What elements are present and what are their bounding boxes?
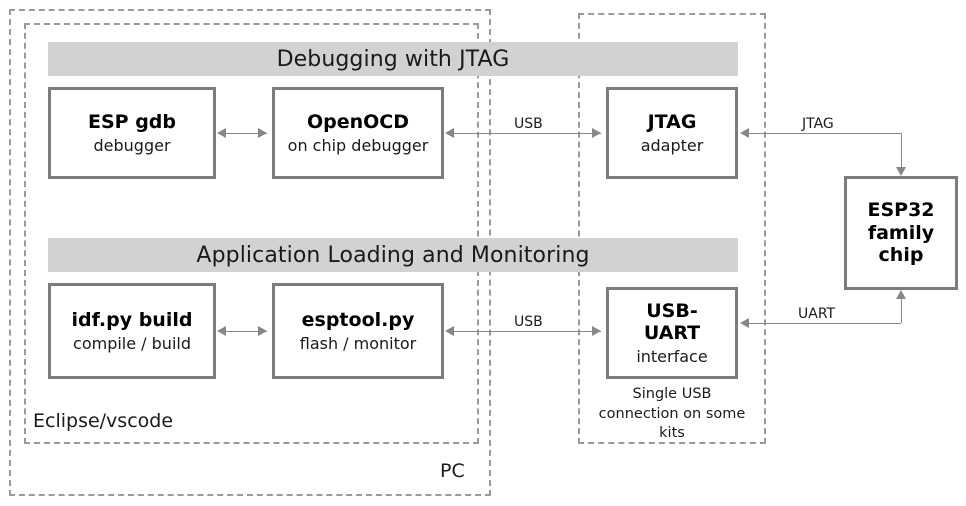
connector-esptool-usbuart-arrow-right — [592, 326, 601, 336]
node-usb-uart[interactable]: USB- UART interface — [606, 287, 738, 379]
connector-usbuart-chip-horizontal — [748, 323, 901, 324]
node-usb-uart-subtitle: interface — [636, 347, 707, 366]
connector-esptool-usbuart-label: USB — [514, 314, 543, 330]
node-idf-py-build[interactable]: idf.py build compile / build — [48, 283, 216, 379]
connector-jtag-chip-horizontal — [748, 133, 901, 134]
node-esptool-py[interactable]: esptool.py flash / monitor — [272, 283, 444, 379]
node-jtag-adapter-subtitle: adapter — [641, 136, 704, 155]
node-esp32-chip-title: ESP32 family chip — [867, 199, 934, 266]
section-bar-loading-label: Application Loading and Monitoring — [196, 243, 589, 268]
connector-jtag-chip-vertical — [901, 133, 902, 167]
connector-esptool-usbuart-arrow-left — [445, 326, 454, 336]
group-pc-label: PC — [440, 460, 465, 482]
connector-openocd-jtag-label: USB — [514, 116, 543, 132]
connector-usbuart-chip-arrow-left — [740, 318, 749, 328]
connector-openocd-jtag-arrow-right — [592, 128, 601, 138]
node-idf-py-build-title: idf.py build — [72, 309, 193, 331]
node-esp32-chip[interactable]: ESP32 family chip — [844, 176, 958, 290]
section-bar-debugging-label: Debugging with JTAG — [277, 47, 510, 72]
connector-gdb-openocd-arrow-right — [258, 128, 267, 138]
node-esptool-py-subtitle: flash / monitor — [300, 334, 417, 353]
node-idf-py-build-subtitle: compile / build — [73, 334, 191, 353]
node-jtag-adapter[interactable]: JTAG adapter — [606, 87, 738, 179]
node-openocd-title: OpenOCD — [307, 111, 409, 133]
connector-usbuart-chip-label: UART — [798, 306, 835, 322]
connector-idf-esptool-arrow-right — [258, 326, 267, 336]
node-usb-uart-caption: Single USB connection on some kits — [591, 385, 753, 444]
connector-usbuart-chip-vertical — [901, 299, 902, 323]
node-esptool-py-title: esptool.py — [302, 309, 415, 331]
connector-jtag-chip-label: JTAG — [802, 116, 834, 132]
connector-usbuart-chip-arrow-up — [896, 290, 906, 299]
connector-jtag-chip-arrow-down — [896, 167, 906, 176]
diagram-canvas: PC Eclipse/vscode Debugging with JTAG Ap… — [0, 0, 966, 506]
connector-esptool-usbuart — [449, 331, 601, 332]
node-openocd-subtitle: on chip debugger — [288, 136, 429, 155]
node-openocd[interactable]: OpenOCD on chip debugger — [272, 87, 444, 179]
section-bar-loading: Application Loading and Monitoring — [48, 238, 738, 272]
connector-jtag-chip-arrow-left — [740, 128, 749, 138]
node-usb-uart-title: USB- UART — [644, 300, 700, 345]
connector-gdb-openocd-arrow-left — [217, 128, 226, 138]
connector-openocd-jtag-arrow-left — [445, 128, 454, 138]
node-esp-gdb-subtitle: debugger — [93, 136, 170, 155]
node-esp-gdb[interactable]: ESP gdb debugger — [48, 87, 216, 179]
connector-openocd-jtag — [449, 133, 601, 134]
group-single-usb — [578, 13, 766, 444]
section-bar-debugging: Debugging with JTAG — [48, 42, 738, 76]
connector-idf-esptool-arrow-left — [217, 326, 226, 336]
node-esp-gdb-title: ESP gdb — [88, 111, 176, 133]
group-ide-label: Eclipse/vscode — [33, 410, 173, 432]
node-jtag-adapter-title: JTAG — [648, 111, 697, 133]
